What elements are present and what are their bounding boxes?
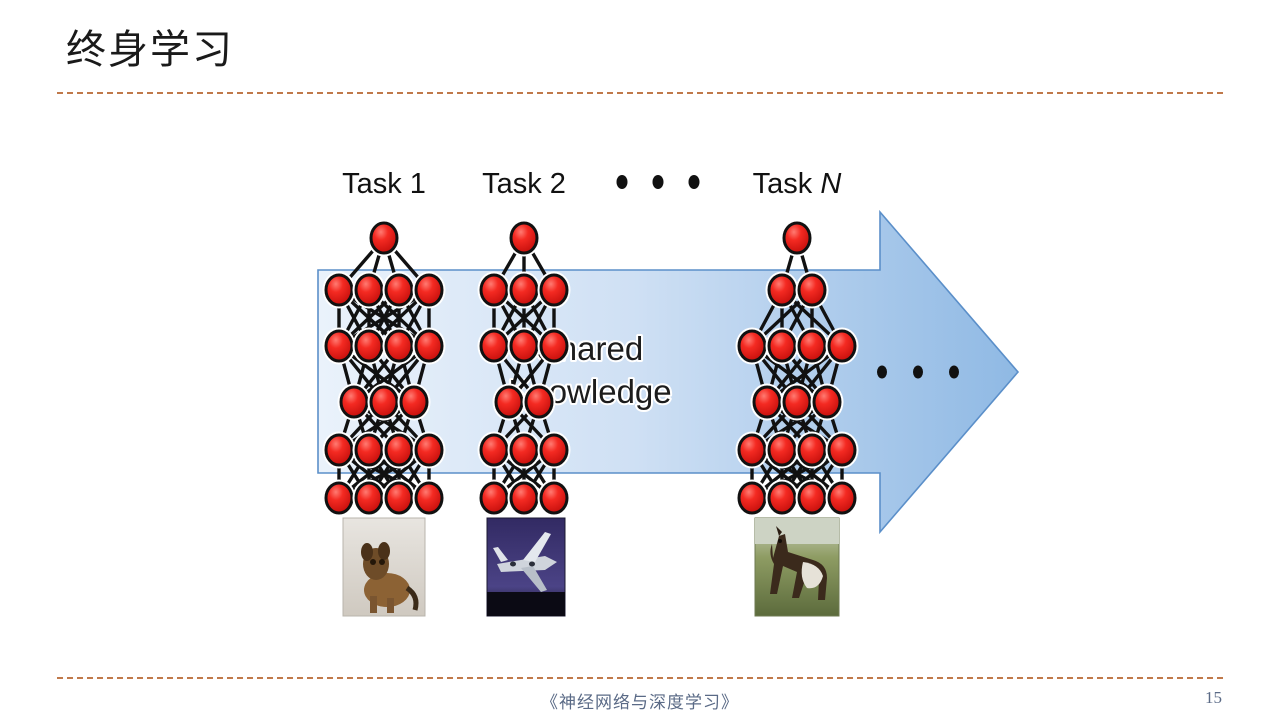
- lifelong-learning-figure: Shared Knowledge Task 1 Task 2 Task N: [300, 150, 1030, 630]
- network-node: [356, 435, 382, 465]
- network-node: [481, 483, 507, 513]
- network-node: [769, 435, 795, 465]
- network-node: [511, 435, 537, 465]
- slide: 终身学习: [0, 0, 1280, 720]
- network-node: [799, 331, 825, 361]
- network-node: [769, 331, 795, 361]
- network-node: [739, 483, 765, 513]
- network-node: [326, 483, 352, 513]
- network-node: [511, 331, 537, 361]
- network-node: [799, 435, 825, 465]
- footer-divider: [57, 677, 1223, 679]
- page-number: 15: [1205, 688, 1222, 708]
- task-label-task-n: Task N: [753, 168, 842, 200]
- network-node: [386, 483, 412, 513]
- network-node: [829, 483, 855, 513]
- network-node: [356, 275, 382, 305]
- network-node: [416, 275, 442, 305]
- network-node: [356, 331, 382, 361]
- network-node: [386, 275, 412, 305]
- network-node: [326, 331, 352, 361]
- network-node: [356, 483, 382, 513]
- figure-canvas: Shared Knowledge Task 1 Task 2 Task N: [300, 150, 1030, 630]
- network-node: [799, 483, 825, 513]
- network-node: [784, 223, 810, 253]
- network-node: [496, 387, 522, 417]
- network-node: [326, 275, 352, 305]
- network-node: [481, 435, 507, 465]
- page-title: 终身学习: [66, 28, 234, 72]
- network-node: [769, 483, 795, 513]
- network-node: [754, 387, 780, 417]
- network-node: [829, 331, 855, 361]
- network-node: [371, 387, 397, 417]
- network-node: [481, 275, 507, 305]
- network-node: [401, 387, 427, 417]
- dog-thumbnail: [343, 518, 425, 616]
- network-node: [416, 331, 442, 361]
- network-node: [526, 387, 552, 417]
- header-ellipsis: [617, 175, 700, 189]
- task-label-task-1: Task 1: [342, 168, 426, 200]
- network-node: [829, 435, 855, 465]
- network-node: [784, 387, 810, 417]
- network-node: [386, 435, 412, 465]
- network-node: [416, 483, 442, 513]
- network-node: [511, 275, 537, 305]
- network-node: [481, 331, 507, 361]
- network-node: [341, 387, 367, 417]
- network-node: [326, 435, 352, 465]
- network-node: [541, 275, 567, 305]
- network-node: [739, 435, 765, 465]
- task-label-task-2: Task 2: [482, 168, 566, 200]
- footer-source: 《神经网络与深度学习》: [0, 688, 1280, 713]
- network-node: [511, 483, 537, 513]
- airplane-thumbnail: [487, 518, 565, 616]
- network-node: [541, 483, 567, 513]
- horse-thumbnail: [755, 518, 839, 616]
- network-node: [371, 223, 397, 253]
- network-node: [416, 435, 442, 465]
- network-node: [769, 275, 795, 305]
- header-divider: [57, 92, 1223, 94]
- network-node: [541, 331, 567, 361]
- network-node: [511, 223, 537, 253]
- network-node: [814, 387, 840, 417]
- network-node: [386, 331, 412, 361]
- network-node: [739, 331, 765, 361]
- network-node: [541, 435, 567, 465]
- network-node: [799, 275, 825, 305]
